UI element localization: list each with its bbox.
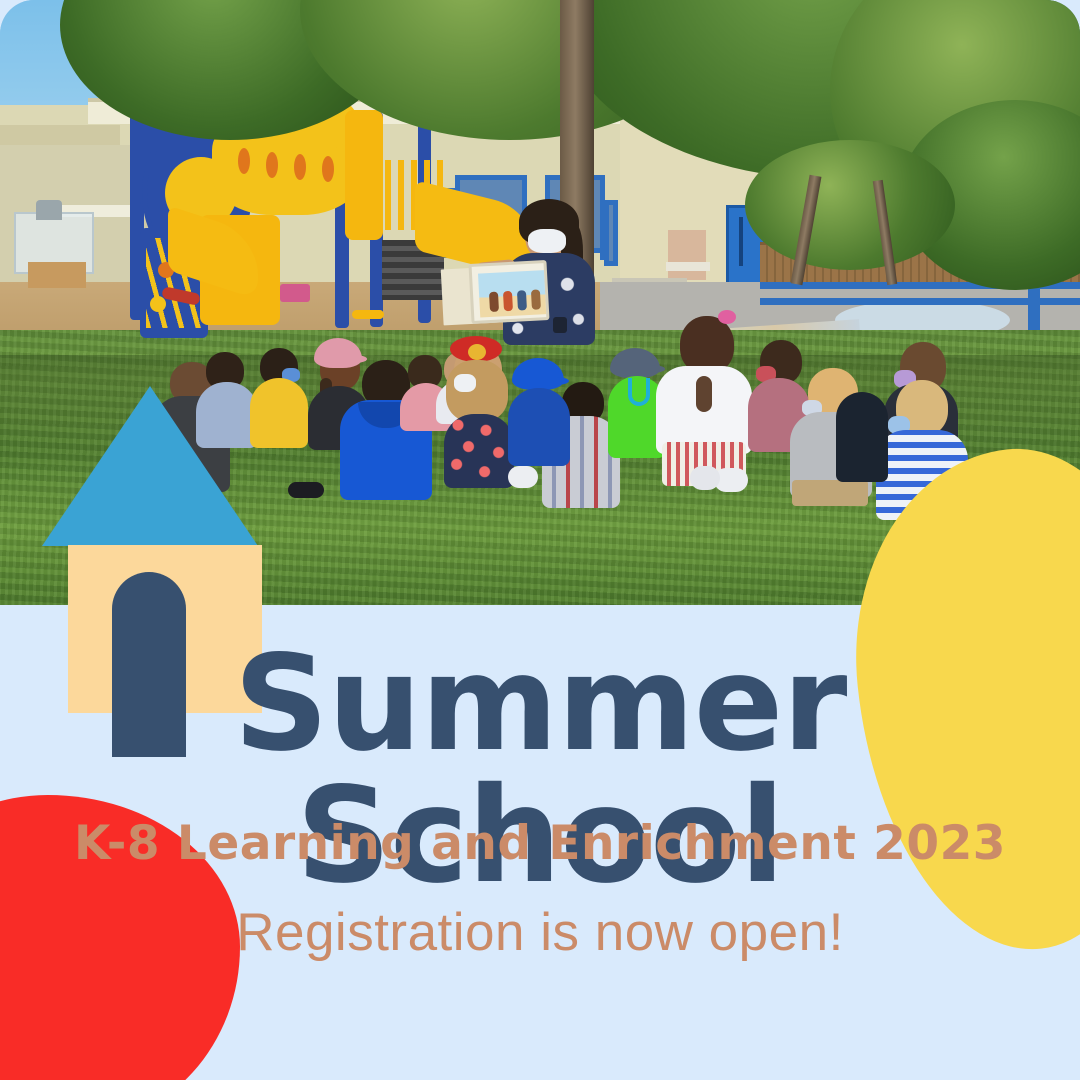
- child-8-watermelon-print: [444, 414, 514, 488]
- child-12-white-tee-girl: [656, 310, 752, 485]
- child-10-blue-cap: [508, 358, 570, 466]
- tube-window-3: [294, 154, 306, 180]
- wall-panel: [668, 230, 706, 280]
- child-8-hair: [446, 360, 508, 422]
- child-14-shorts: [792, 480, 868, 506]
- book-illustration: [478, 270, 546, 317]
- shoe-dark-1: [288, 482, 324, 498]
- drinking-fountain: [666, 262, 710, 271]
- book-figure-2: [503, 291, 513, 311]
- child-17-far-right: [836, 392, 888, 482]
- child-3-yellow-vest: [250, 348, 308, 448]
- child-8-face-mask: [454, 374, 476, 392]
- child-10-body: [508, 388, 570, 466]
- child-8-bow-gold: [468, 344, 486, 360]
- child-8-red-bow: [440, 338, 518, 488]
- child-17-body: [836, 392, 888, 482]
- page-subtitle: K-8 Learning and Enrichment 2023: [0, 816, 1080, 871]
- tree-canopy-backyard: [745, 140, 955, 270]
- teacher-face-mask: [528, 229, 566, 253]
- book-figure-3: [517, 290, 527, 310]
- child-10-cap: [512, 358, 564, 390]
- shoe-white-1: [508, 466, 538, 488]
- child-11-camo-cap: [610, 348, 660, 378]
- tube-window-4: [322, 156, 334, 182]
- playground-cart: [280, 284, 310, 302]
- child-12-keyhole: [696, 376, 712, 412]
- child-12-hairtie: [718, 310, 736, 324]
- water-station-top: [36, 200, 62, 220]
- schoolhouse-roof-icon: [42, 386, 258, 546]
- shoe-white-3: [690, 466, 720, 490]
- playground-knob-red: [150, 296, 166, 312]
- summer-school-poster: Summer School K-8 Learning and Enrichmen…: [0, 0, 1080, 1080]
- picture-book: [468, 260, 549, 324]
- child-3-vest: [250, 378, 308, 448]
- teacher-watch: [553, 317, 567, 333]
- book-figure-4: [531, 289, 541, 309]
- child-11-lanyard: [628, 378, 650, 406]
- book-figure-1: [489, 292, 499, 312]
- playground-step-1: [352, 310, 384, 319]
- door-window: [739, 217, 743, 266]
- storage-box: [28, 262, 86, 288]
- tube-window-1: [238, 148, 250, 174]
- registration-tagline: Registration is now open!: [0, 902, 1080, 963]
- tube-window-2: [266, 152, 278, 178]
